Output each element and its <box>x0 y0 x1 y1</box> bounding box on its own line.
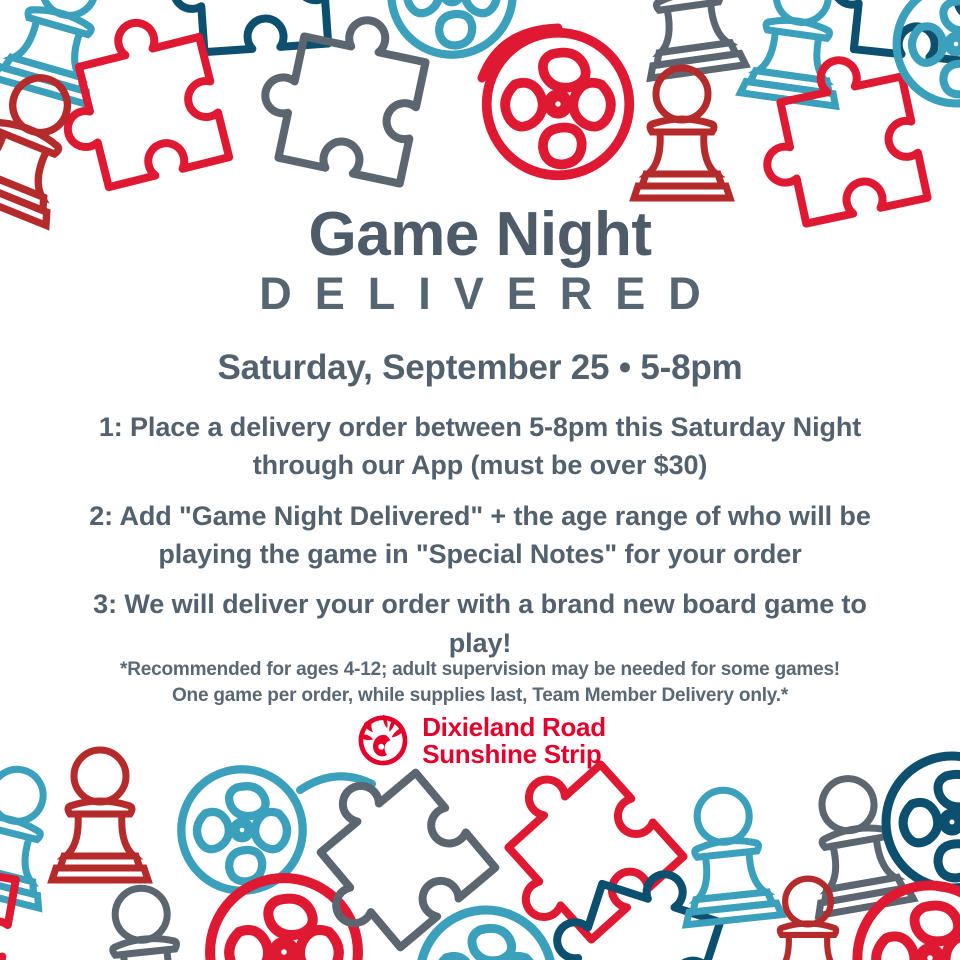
title-block: Game Night DELIVERED <box>0 203 960 322</box>
brand-logo-text: Dixieland Road Sunshine Strip <box>422 714 606 768</box>
disclaimer-text: *Recommended for ages 4-12; adult superv… <box>0 657 960 708</box>
page-subtitle: DELIVERED <box>0 266 960 322</box>
instruction-step-1: 1: Place a delivery order between 5-8pm … <box>65 408 895 485</box>
brand-name-line-1: Dixieland Road <box>422 714 606 741</box>
page-title: Game Night <box>0 203 960 266</box>
brand-name-line-2: Sunshine Strip <box>422 741 606 768</box>
instruction-steps-list: 1: Place a delivery order between 5-8pm … <box>0 408 960 674</box>
brand-logo: Dixieland Road Sunshine Strip <box>0 712 960 770</box>
instruction-step-3: 3: We will deliver your order with a bra… <box>65 585 895 662</box>
disclaimer-line-2: One game per order, while supplies last,… <box>0 683 960 709</box>
chick-fil-a-logo-icon <box>354 712 412 770</box>
event-date-time: Saturday, September 25 • 5-8pm <box>0 348 960 388</box>
poster-content: Game Night DELIVERED Saturday, September… <box>0 0 960 960</box>
disclaimer-line-1: *Recommended for ages 4-12; adult superv… <box>0 657 960 683</box>
poster-canvas: Game Night DELIVERED Saturday, September… <box>0 0 960 960</box>
instruction-step-2: 2: Add "Game Night Delivered" + the age … <box>65 497 895 574</box>
